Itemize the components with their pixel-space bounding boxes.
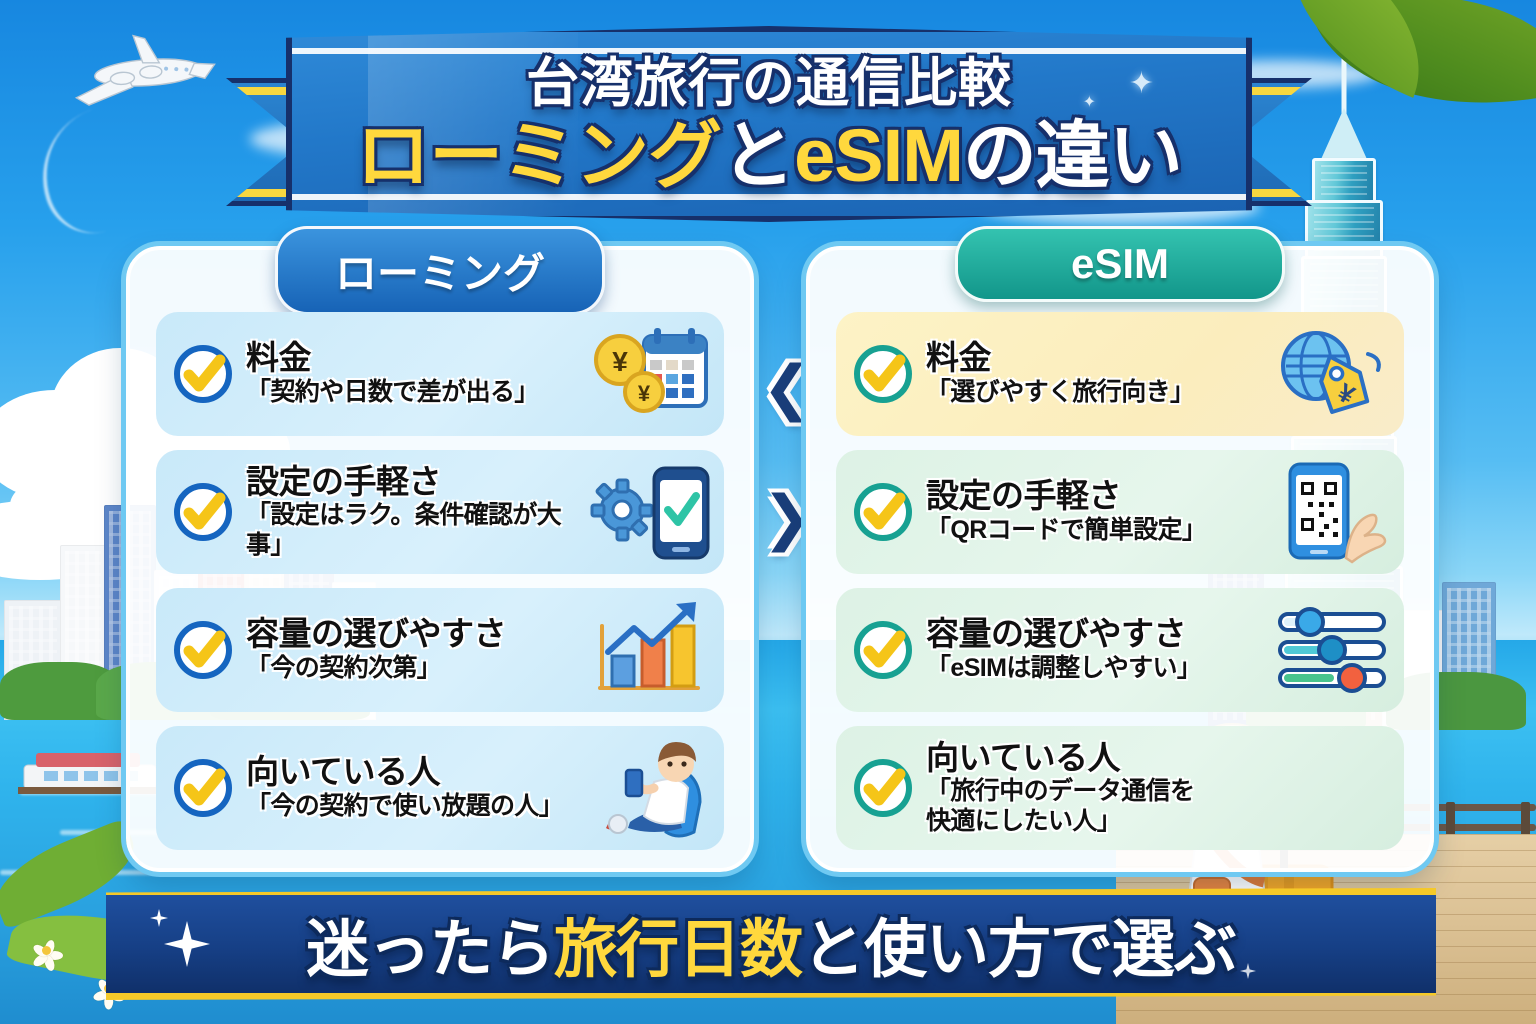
svg-text:¥: ¥ <box>638 381 651 406</box>
title-ribbon: ✦ ✦ 台湾旅行の通信比較 ローミングとeSIMの違い <box>226 18 1312 228</box>
check-circle-icon <box>170 755 236 821</box>
card-text: 向いている人 「旅行中のデータ通信を 快適にしたい人」 <box>926 740 1268 837</box>
check-circle-icon <box>170 341 236 407</box>
card-subtitle: 「QRコードで簡単設定」 <box>926 516 1268 546</box>
card-esim-price[interactable]: 料金 「選びやすく旅行向き」 ¥ <box>836 312 1404 436</box>
card-roaming-setup[interactable]: 設定の手軽さ 「設定はラク。条件確認が大事」 <box>156 450 724 574</box>
check-circle-icon <box>170 479 236 545</box>
card-roaming-audience[interactable]: 向いている人 「今の契約で使い放題の人」 <box>156 726 724 850</box>
person-relaxing-phone-icon <box>592 738 712 838</box>
card-subtitle: 「旅行中のデータ通信を 快適にしたい人」 <box>926 777 1268 836</box>
card-esim-setup[interactable]: 設定の手軽さ 「QRコードで簡単設定」 <box>836 450 1404 574</box>
card-subtitle: 「選びやすく旅行向き」 <box>926 378 1268 408</box>
banner-text-part2: と使い方で選ぶ <box>802 915 1236 985</box>
infographic-canvas: ✦ ✦ 台湾旅行の通信比較 ローミングとeSIMの違い ローミング <box>0 0 1536 1024</box>
comparison-panel-roaming: ローミング 料金 「契約や日数で差が出る」 <box>126 246 754 872</box>
svg-text:¥: ¥ <box>612 346 628 377</box>
flower-icon <box>30 934 64 968</box>
card-title: 設定の手軽さ <box>926 478 1268 514</box>
page-title-line2: ローミングとeSIMの違い <box>292 118 1246 193</box>
card-esim-capacity[interactable]: 容量の選びやすさ 「eSIMは調整しやすい」 <box>836 588 1404 712</box>
card-title: 料金 <box>246 340 588 376</box>
banner-text: 迷ったら旅行日数と使い方で選ぶ <box>306 899 1236 990</box>
title-esim-word: eSIM <box>794 114 963 197</box>
panel-header-roaming: ローミング <box>275 226 605 315</box>
card-subtitle: 「今の契約次第」 <box>246 654 588 684</box>
title-roaming-word: ローミング <box>356 114 721 197</box>
card-title: 向いている人 <box>246 754 588 790</box>
card-title: 容量の選びやすさ <box>246 616 588 652</box>
card-text: 料金 「選びやすく旅行向き」 <box>926 340 1268 407</box>
panel-header-esim: eSIM <box>955 226 1285 302</box>
sparkle-icon <box>150 909 168 927</box>
card-title: 料金 <box>926 340 1268 376</box>
bar-chart-arrow-icon <box>592 600 712 700</box>
sparkle-icon <box>1240 963 1256 979</box>
card-roaming-capacity[interactable]: 容量の選びやすさ 「今の契約次第」 <box>156 588 724 712</box>
title-conjunction: と <box>721 114 794 197</box>
roaming-card-list: 料金 「契約や日数で差が出る」 ¥ <box>156 312 724 850</box>
banner-text-highlight: 旅行日数 <box>554 915 802 985</box>
card-text: 向いている人 「今の契約で使い放題の人」 <box>246 754 588 821</box>
card-roaming-price[interactable]: 料金 「契約や日数で差が出る」 ¥ <box>156 312 724 436</box>
chevron-right-icon: ❯ <box>762 488 812 548</box>
title-suffix: の違い <box>963 114 1182 197</box>
card-subtitle: 「契約や日数で差が出る」 <box>246 378 588 408</box>
yen-coins-calendar-icon: ¥ ¥ <box>592 324 712 424</box>
check-circle-icon <box>850 479 916 545</box>
card-esim-audience[interactable]: 向いている人 「旅行中のデータ通信を 快適にしたい人」 <box>836 726 1404 850</box>
ribbon-banner: ✦ ✦ 台湾旅行の通信比較 ローミングとeSIMの違い <box>286 26 1252 222</box>
bottom-banner: 迷ったら旅行日数と使い方で選ぶ <box>106 888 1436 1000</box>
check-circle-icon <box>850 617 916 683</box>
gear-phone-check-icon <box>592 462 712 562</box>
card-title: 設定の手軽さ <box>246 464 588 500</box>
globe-price-tag-icon: ¥ <box>1272 324 1392 424</box>
page-title-line1: 台湾旅行の通信比較 <box>292 56 1246 112</box>
banner-text-part1: 迷ったら <box>306 915 554 985</box>
card-text: 料金 「契約や日数で差が出る」 <box>246 340 588 407</box>
traveler-woman-phone-icon <box>1272 738 1392 838</box>
qr-phone-hand-icon <box>1272 462 1392 562</box>
card-text: 容量の選びやすさ 「今の契約次第」 <box>246 616 588 683</box>
check-circle-icon <box>850 755 916 821</box>
check-circle-icon <box>850 341 916 407</box>
card-text: 容量の選びやすさ 「eSIMは調整しやすい」 <box>926 616 1268 683</box>
card-subtitle: 「設定はラク。条件確認が大事」 <box>246 501 588 560</box>
card-title: 容量の選びやすさ <box>926 616 1268 652</box>
card-text: 設定の手軽さ 「設定はラク。条件確認が大事」 <box>246 464 588 561</box>
comparison-panel-esim: eSIM 料金 「選びやすく旅行向き」 <box>806 246 1434 872</box>
card-text: 設定の手軽さ 「QRコードで簡単設定」 <box>926 478 1268 545</box>
chevron-left-icon: ❮ <box>762 358 812 418</box>
esim-card-list: 料金 「選びやすく旅行向き」 ¥ <box>836 312 1404 850</box>
sparkle-icon <box>164 921 210 967</box>
card-subtitle: 「eSIMは調整しやすい」 <box>926 654 1268 684</box>
card-subtitle: 「今の契約で使い放題の人」 <box>246 792 588 822</box>
sliders-icon <box>1272 600 1392 700</box>
card-title: 向いている人 <box>926 740 1268 776</box>
check-circle-icon <box>170 617 236 683</box>
